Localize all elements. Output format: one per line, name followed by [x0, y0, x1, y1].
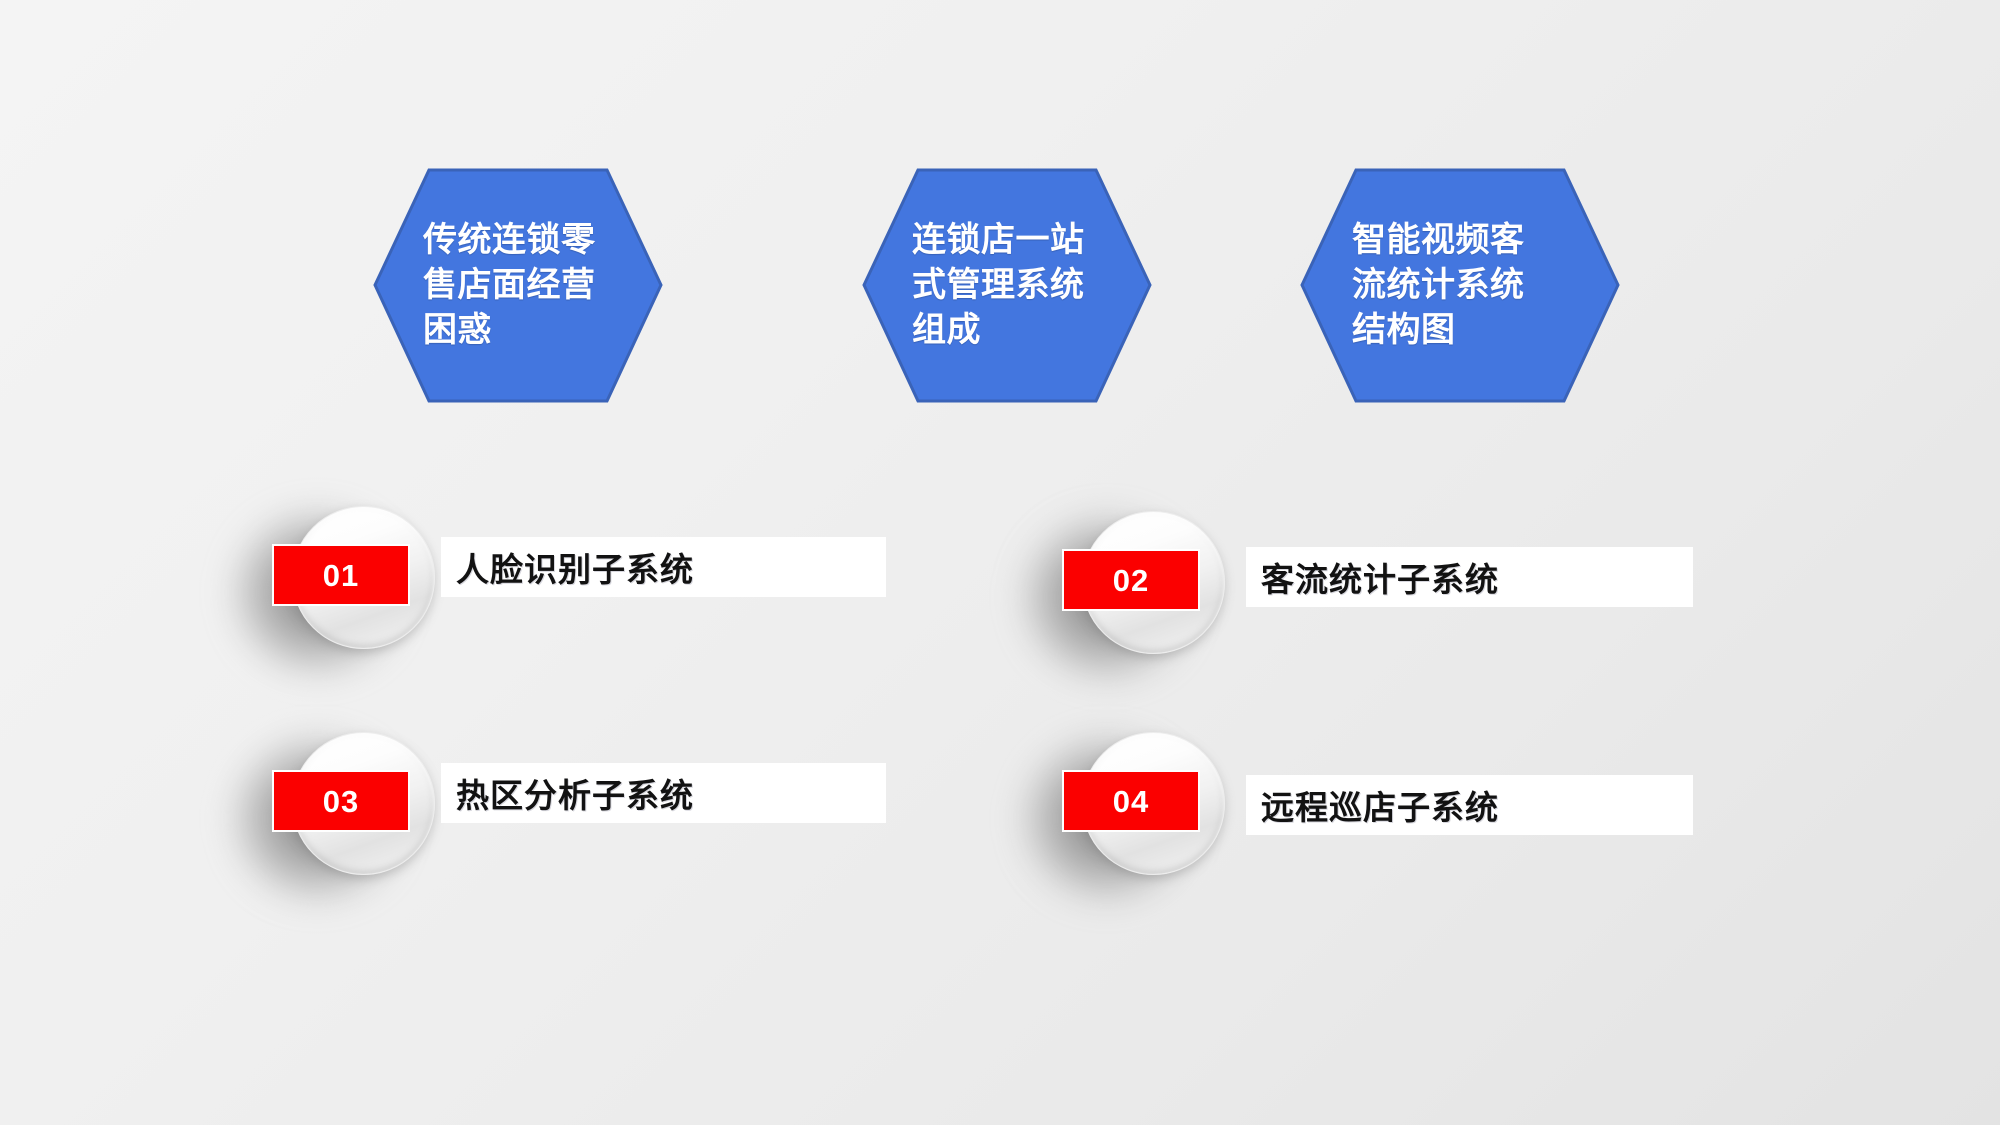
item-label-bar-02[interactable]: 客流统计子系统 — [1246, 547, 1693, 607]
list-item-03[interactable]: 03 热区分析子系统 — [278, 730, 898, 895]
hexagon-label-2: 连锁店一站 式管理系统 组成 — [912, 218, 1085, 354]
item-label-bar-01[interactable]: 人脸识别子系统 — [441, 537, 886, 597]
badge-03[interactable]: 03 — [278, 730, 438, 890]
badge-02[interactable]: 02 — [1068, 509, 1228, 669]
badge-number-band: 02 — [1062, 549, 1200, 611]
hexagon-card-2[interactable]: 连锁店一站 式管理系统 组成 — [862, 168, 1152, 403]
badge-number-text: 04 — [1113, 786, 1149, 817]
list-item-01[interactable]: 01 人脸识别子系统 — [278, 504, 898, 669]
hexagon-label-3: 智能视频客 流统计系统 结构图 — [1352, 218, 1525, 354]
slide-canvas: 传统连锁零 售店面经营 困惑 连锁店一站 式管理系统 组成 智能视频客 流统计系… — [0, 0, 2000, 1125]
badge-number-band: 04 — [1062, 770, 1200, 832]
hexagon-card-1[interactable]: 传统连锁零 售店面经营 困惑 — [373, 168, 663, 403]
item-label-text: 客流统计子系统 — [1246, 553, 1499, 601]
list-item-04[interactable]: 04 远程巡店子系统 — [1068, 730, 1688, 895]
list-item-02[interactable]: 02 客流统计子系统 — [1068, 509, 1688, 674]
hexagon-card-3[interactable]: 智能视频客 流统计系统 结构图 — [1300, 168, 1620, 403]
item-label-text: 人脸识别子系统 — [441, 543, 694, 591]
item-label-text: 热区分析子系统 — [441, 769, 694, 817]
badge-number-text: 01 — [323, 560, 359, 591]
hexagon-label-1: 传统连锁零 售店面经营 困惑 — [423, 218, 596, 354]
badge-number-band: 03 — [272, 770, 410, 832]
item-label-text: 远程巡店子系统 — [1246, 781, 1499, 829]
badge-04[interactable]: 04 — [1068, 730, 1228, 890]
badge-number-text: 03 — [323, 786, 359, 817]
badge-number-band: 01 — [272, 544, 410, 606]
badge-number-text: 02 — [1113, 565, 1149, 596]
item-label-bar-04[interactable]: 远程巡店子系统 — [1246, 775, 1693, 835]
badge-01[interactable]: 01 — [278, 504, 438, 664]
item-label-bar-03[interactable]: 热区分析子系统 — [441, 763, 886, 823]
